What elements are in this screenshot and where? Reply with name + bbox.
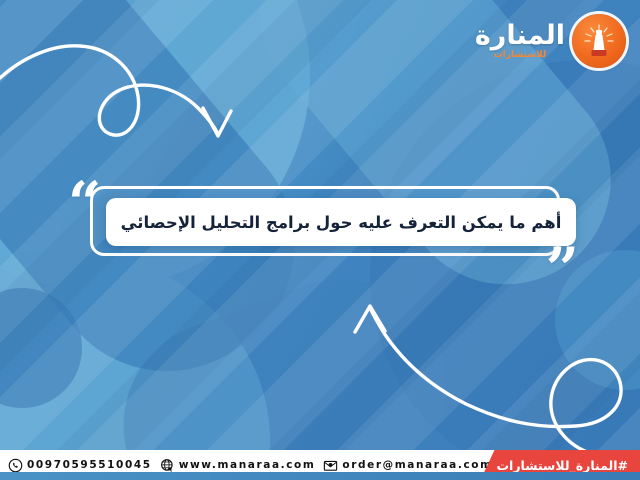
hashtag-label: #المنارة_للاستشارات [497, 458, 629, 473]
contact-email-label: order@manaraa.com [342, 459, 492, 471]
brand-subtitle: للاستشارات [494, 51, 547, 60]
contact-whatsapp-label: 00970595510045 [27, 459, 152, 471]
globe-icon [160, 458, 175, 473]
contact-website[interactable]: www.manaraa.com [160, 458, 316, 473]
footer-bottom-strip [0, 472, 640, 480]
quote-headline: أهم ما يمكن التعرف عليه حول برامج التحلي… [121, 213, 562, 232]
brand-name: المنارة [475, 22, 565, 49]
lighthouse-icon [572, 14, 626, 68]
lighthouse-glyph [579, 21, 619, 61]
quote-close-mark: ” [546, 240, 579, 298]
envelope-icon [323, 458, 338, 473]
contact-website-label: www.manaraa.com [179, 459, 316, 471]
contact-email[interactable]: order@manaraa.com [323, 458, 492, 473]
brand-logo-text: المنارة للاستشارات [475, 22, 565, 60]
contact-whatsapp[interactable]: 00970595510045 [8, 458, 152, 473]
brand-logo: المنارة للاستشارات [475, 14, 626, 68]
quote-block: “ أهم ما يمكن التعرف عليه حول برامج التح… [68, 178, 573, 270]
quote-card: أهم ما يمكن التعرف عليه حول برامج التحلي… [106, 198, 576, 246]
poster-canvas: المنارة للاستشارات “ أهم ما يمكن التعرف … [0, 0, 640, 480]
whatsapp-icon [8, 458, 23, 473]
